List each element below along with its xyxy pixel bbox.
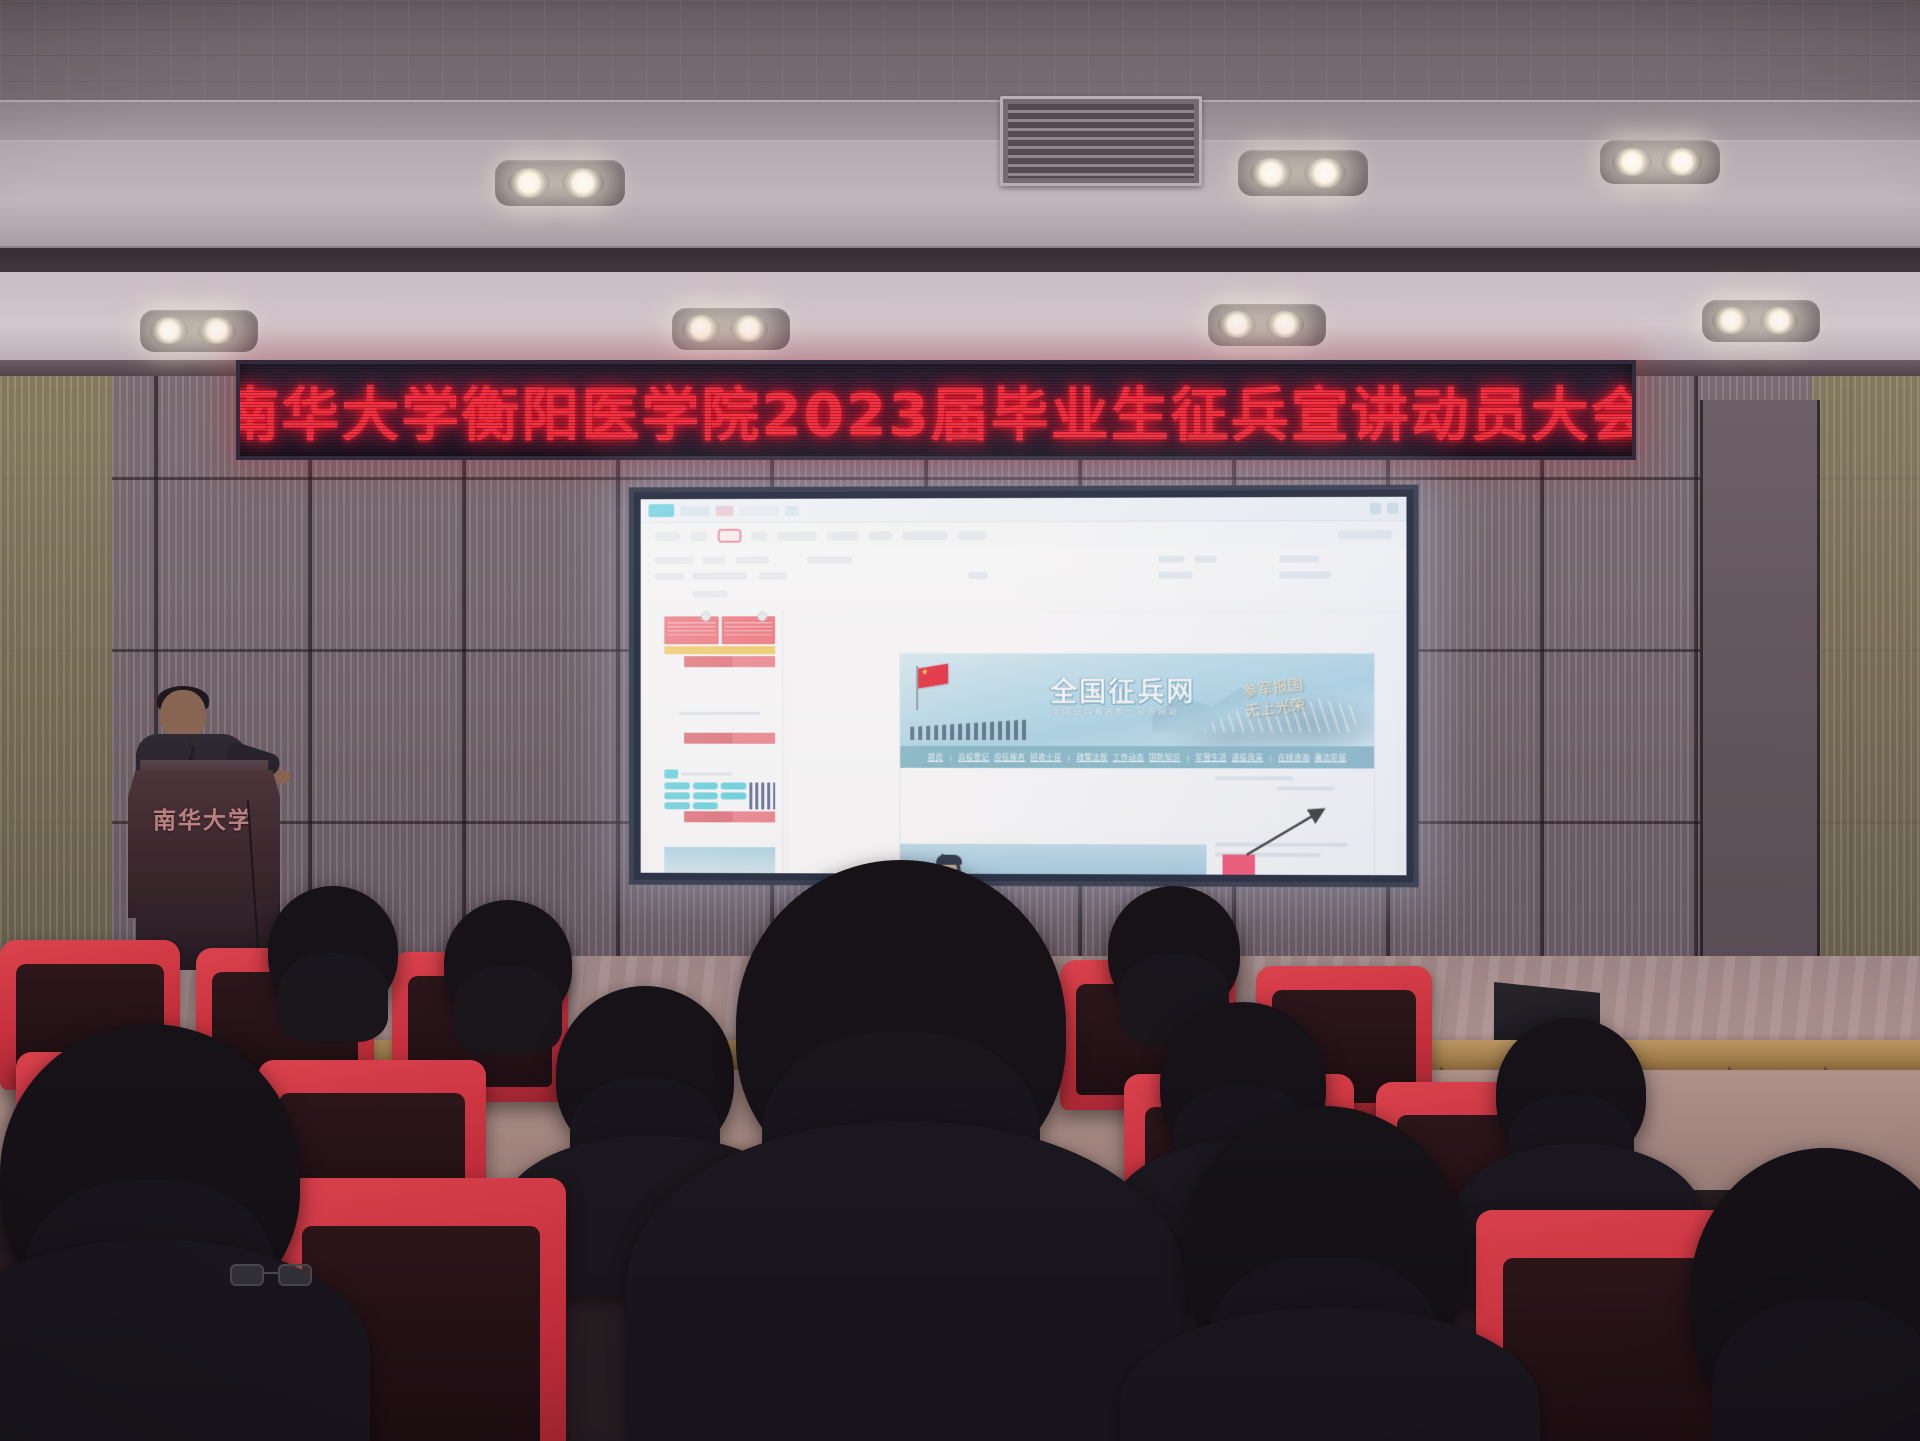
downlight-icon [1304, 158, 1346, 188]
toolbar-item[interactable] [902, 531, 948, 540]
toolbar-spacer [996, 534, 1328, 535]
flow-chip [664, 782, 689, 789]
downlight-icon [1662, 148, 1702, 176]
highlight-band [664, 646, 775, 654]
troops-silhouette-icon [910, 706, 1028, 740]
audience-head [444, 900, 572, 1026]
text-line [1215, 843, 1348, 847]
website-subtitle: 全国征兵报名唯一官方网站 [1052, 706, 1180, 717]
downlight-icon [1218, 311, 1256, 338]
audience-shoulders-front [626, 1122, 1186, 1441]
flow-chip [693, 792, 718, 799]
tabstrip-spacer [805, 508, 1364, 510]
slide-thumbnail[interactable] [664, 616, 775, 667]
slide-thumbnail-body [664, 616, 775, 667]
wall-slat-texture-left [0, 376, 112, 996]
soldier-silhouette-icon [749, 783, 775, 810]
website-title: 全国征兵网 [1050, 670, 1195, 709]
bullet-icon [664, 769, 678, 778]
stage-side-door[interactable] [1700, 400, 1820, 960]
toolbar-item[interactable] [654, 531, 680, 540]
website-seal-text: 参军报国 无上光荣 [1234, 674, 1313, 725]
window-close-icon[interactable] [1387, 503, 1398, 514]
downlight-icon [150, 317, 188, 344]
downlight-icon [682, 315, 720, 342]
nav-sep: | [1268, 753, 1273, 762]
ribbon-control[interactable] [1194, 556, 1216, 563]
nav-item-policy[interactable]: 政策法规 [1076, 752, 1107, 763]
flow-chip [693, 802, 718, 809]
led-banner-text: 南华大学衡阳医学院2023届毕业生征兵宣讲动员大会 [236, 368, 1636, 452]
seal-icon [700, 611, 710, 621]
slide-thumbnail[interactable] [664, 769, 775, 822]
slide-canvas: 全国征兵网 全国征兵报名唯一官方网站 参军报国 无上光荣 首页 | 兵役登记 应… [789, 614, 1396, 876]
nav-item-recruit-ncos[interactable]: 招收士官 [1030, 752, 1061, 763]
flow-chip [693, 782, 718, 789]
downlight-icon [1612, 148, 1652, 176]
slide-thumbnail-body [664, 769, 775, 822]
toolbar-item[interactable] [827, 531, 859, 540]
nav-sep: | [948, 752, 953, 761]
downlight-icon [1250, 158, 1292, 188]
ribbon-control[interactable] [702, 557, 726, 564]
registration-entry-button[interactable] [1223, 855, 1255, 876]
toolbar-item[interactable] [1338, 529, 1393, 538]
toolbar-item[interactable] [868, 531, 892, 540]
toolbar-item[interactable] [777, 531, 817, 540]
ribbon-control[interactable] [692, 573, 747, 580]
slide-thumbnail-body [664, 847, 775, 875]
website-hero-thumb [664, 847, 775, 873]
ribbon-control[interactable] [759, 572, 787, 579]
audience-head-front [1690, 1148, 1920, 1438]
ribbon-control[interactable] [692, 590, 728, 597]
nav-item-enlist-application[interactable]: 应征报名 [994, 751, 1025, 762]
presenter-hand [274, 770, 290, 784]
downlight-icon [1760, 307, 1798, 334]
ribbon-control[interactable] [654, 573, 684, 580]
browser-tab-strip[interactable] [641, 497, 1407, 523]
ribbon-control[interactable] [1158, 572, 1192, 579]
seal-icon [757, 611, 767, 621]
browser-tab[interactable] [716, 505, 734, 515]
nav-item-veterans[interactable]: 退役风采 [1232, 752, 1263, 763]
slide-footer-graphic [664, 733, 775, 744]
slide-footer-graphic [664, 811, 775, 822]
nav-item-military-registration[interactable]: 兵役登记 [958, 751, 989, 762]
text-line [1277, 786, 1335, 790]
slide-footer-graphic [664, 656, 775, 667]
china-flag-icon [918, 664, 948, 689]
slide-thumbnail[interactable] [664, 847, 775, 875]
nav-sep: | [1067, 753, 1072, 762]
website-body: 报国参军，中央军委批准 一步步教你网上应征报名 [900, 768, 1374, 875]
text-line [679, 712, 761, 715]
downlight-icon [730, 315, 768, 342]
browser-tab-active[interactable] [649, 504, 675, 517]
slide-thumbnail[interactable] [664, 694, 775, 744]
text-line [681, 772, 732, 775]
ceiling-shadow-band [0, 248, 1920, 274]
browser-new-tab-icon[interactable] [785, 505, 799, 515]
toolbar-item[interactable] [751, 531, 767, 540]
podium [128, 770, 280, 918]
thumb-content-row [664, 782, 775, 809]
audience-head [1108, 886, 1240, 1016]
nav-sep: | [1185, 753, 1190, 762]
nav-item-news[interactable]: 工作动态 [1113, 752, 1144, 763]
wall-panel-left [0, 376, 112, 996]
nav-item-defense-knowledge[interactable]: 国防知识 [1149, 752, 1180, 763]
website-nav-bar[interactable]: 首页 | 兵役登记 应征报名 招收士官 | 政策法规 工作动态 国防知识 | 军… [900, 746, 1374, 769]
flow-chip [721, 782, 746, 789]
thumb-heading-row [664, 769, 775, 778]
ribbon-control[interactable] [654, 557, 694, 564]
air-vent-icon [1000, 96, 1202, 186]
wall-slat-texture-right [1812, 376, 1920, 996]
downlight-icon [508, 168, 550, 198]
ceiling-grid-texture [0, 0, 1920, 108]
nav-item-report[interactable]: 廉洁举报 [1315, 752, 1347, 763]
flow-chip [664, 802, 689, 809]
ribbon-control[interactable] [736, 557, 770, 564]
audience-head [268, 886, 398, 1014]
lens-bridge [264, 1272, 278, 1274]
lens-left [230, 1264, 264, 1286]
slide-thumbnail-rail[interactable] [647, 610, 783, 873]
downlight-icon [1266, 311, 1304, 338]
soldier-cap-icon [936, 855, 962, 865]
window-minimize-icon[interactable] [1370, 503, 1381, 514]
nav-item-home[interactable]: 首页 [928, 751, 944, 762]
projection-screen[interactable]: 全国征兵网 全国征兵报名唯一官方网站 参军报国 无上光荣 首页 | 兵役登记 应… [629, 485, 1419, 888]
led-banner: 南华大学衡阳医学院2023届毕业生征兵宣讲动员大会 [236, 360, 1636, 460]
flow-chip-grid [664, 782, 746, 809]
policy-card-pair [664, 616, 775, 644]
auditorium-scene: 南华大学衡阳医学院2023届毕业生征兵宣讲动员大会 [0, 0, 1920, 1441]
right-col-gap [1215, 796, 1366, 843]
eyeglasses-icon [230, 1264, 316, 1286]
ribbon-control[interactable] [968, 572, 988, 579]
text-line [1215, 776, 1294, 780]
toolbar-item[interactable] [690, 531, 708, 540]
browser-tab[interactable] [739, 505, 779, 515]
ceiling-soffit-lower [0, 272, 1920, 362]
website-hero-banner: 全国征兵网 全国征兵报名唯一官方网站 参军报国 无上光荣 [900, 654, 1374, 747]
nav-item-online-consult[interactable]: 在线咨询 [1278, 752, 1309, 763]
projection-screen-content: 全国征兵网 全国征兵报名唯一官方网站 参军报国 无上光荣 首页 | 兵役登记 应… [641, 497, 1407, 876]
gfbzb-website-screenshot: 全国征兵网 全国征兵报名唯一官方网站 参军报国 无上光荣 首页 | 兵役登记 应… [900, 654, 1374, 875]
nav-item-army-life[interactable]: 军营生活 [1195, 752, 1226, 763]
flow-chip [721, 792, 746, 799]
app-ribbon[interactable] [641, 547, 1407, 600]
ribbon-control[interactable] [807, 556, 853, 563]
browser-toolbar[interactable] [641, 521, 1407, 549]
wall-panel-right [1812, 376, 1920, 996]
downlight-icon [1712, 307, 1750, 334]
toolbar-item[interactable] [958, 531, 986, 540]
flow-chip [664, 792, 689, 799]
slide-thumbnail-body [664, 712, 775, 744]
downlight-icon [198, 317, 236, 344]
policy-card [664, 616, 718, 644]
ribbon-control[interactable] [1279, 555, 1319, 562]
browser-tab[interactable] [680, 505, 710, 515]
policy-card [721, 616, 775, 644]
ceiling-soffit-upper [0, 100, 1920, 142]
lens-right [278, 1264, 312, 1286]
ribbon-control[interactable] [1279, 571, 1332, 578]
ribbon-control[interactable] [1158, 556, 1184, 563]
record-button[interactable] [718, 529, 742, 543]
website-right-column [1215, 776, 1366, 875]
downlight-icon [562, 168, 604, 198]
